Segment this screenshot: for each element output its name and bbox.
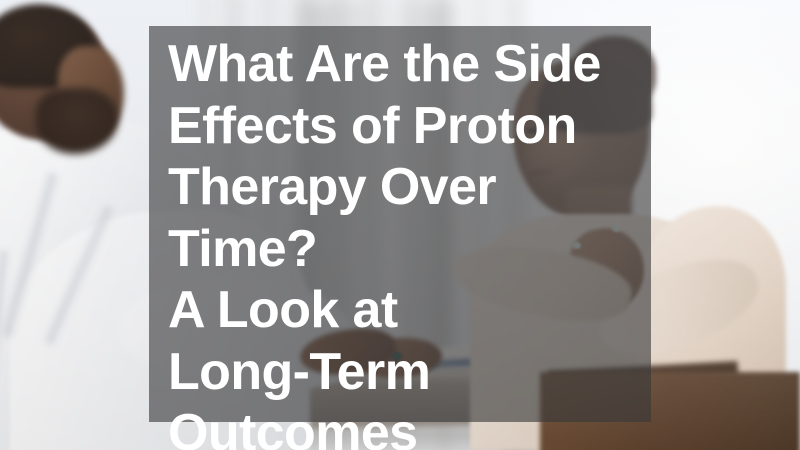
title-overlay-panel: What Are the Side Effects of Proton Ther… [149,26,651,422]
hero-image: What Are the Side Effects of Proton Ther… [0,0,800,450]
page-title: What Are the Side Effects of Proton Ther… [168,34,638,450]
